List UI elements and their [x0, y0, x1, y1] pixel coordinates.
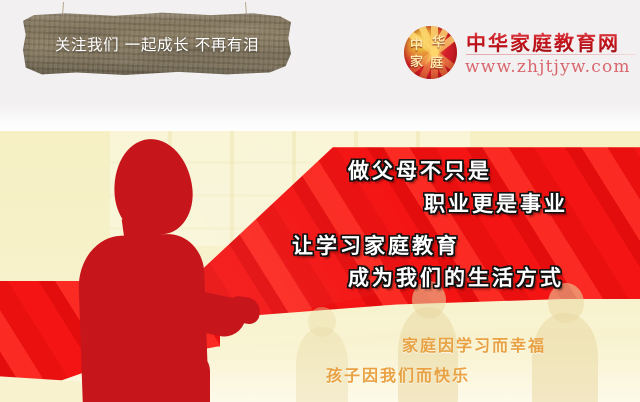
brand-block[interactable]: 中 华 家 庭 中华家庭教育网 www.zhjtjyw.com [404, 24, 636, 86]
silhouette-hand [224, 295, 261, 325]
banner-headline-3: 让学习家庭教育 [292, 230, 460, 260]
teacher-silhouette [58, 139, 268, 402]
banner-headline-4: 成为我们的生活方式 [348, 262, 564, 292]
silhouette-lower-body [128, 351, 210, 402]
site-header: 关注我们 一起成长 不再有泪 中 华 家 庭 中华家庭教育网 www.zhjtj… [0, 0, 640, 120]
ghost-figure-2-body [532, 313, 598, 402]
wooden-sign: 关注我们 一起成长 不再有泪 [23, 0, 293, 86]
logo-char-1: 中 [410, 39, 423, 52]
hero-banner: 做父母不只是 职业更是事业 让学习家庭教育 成为我们的生活方式 家庭因学习而幸福… [0, 131, 640, 402]
logo-char-3: 家 [410, 56, 423, 69]
brand-logo-icon: 中 华 家 庭 [404, 26, 457, 79]
banner-gold-line-1: 家庭因学习而幸福 [402, 332, 546, 356]
page-root: 关注我们 一起成长 不再有泪 中 华 家 庭 中华家庭教育网 www.zhjtj… [0, 0, 640, 402]
logo-char-4: 庭 [430, 57, 443, 70]
banner-gold-line-2: 孩子因我们而快乐 [326, 362, 470, 386]
brand-url-text[interactable]: www.zhjtjyw.com [465, 57, 631, 77]
ghost-figure-3-head [308, 307, 336, 337]
brand-name-text: 中华家庭教育网 [466, 27, 620, 56]
brand-divider [466, 54, 636, 55]
banner-headline-2: 职业更是事业 [424, 188, 568, 218]
sign-slogan-text: 关注我们 一起成长 不再有泪 [23, 12, 291, 75]
header-bottom-fade [0, 104, 640, 131]
logo-char-2: 华 [432, 36, 445, 49]
banner-headline-1: 做父母不只是 [348, 155, 492, 185]
